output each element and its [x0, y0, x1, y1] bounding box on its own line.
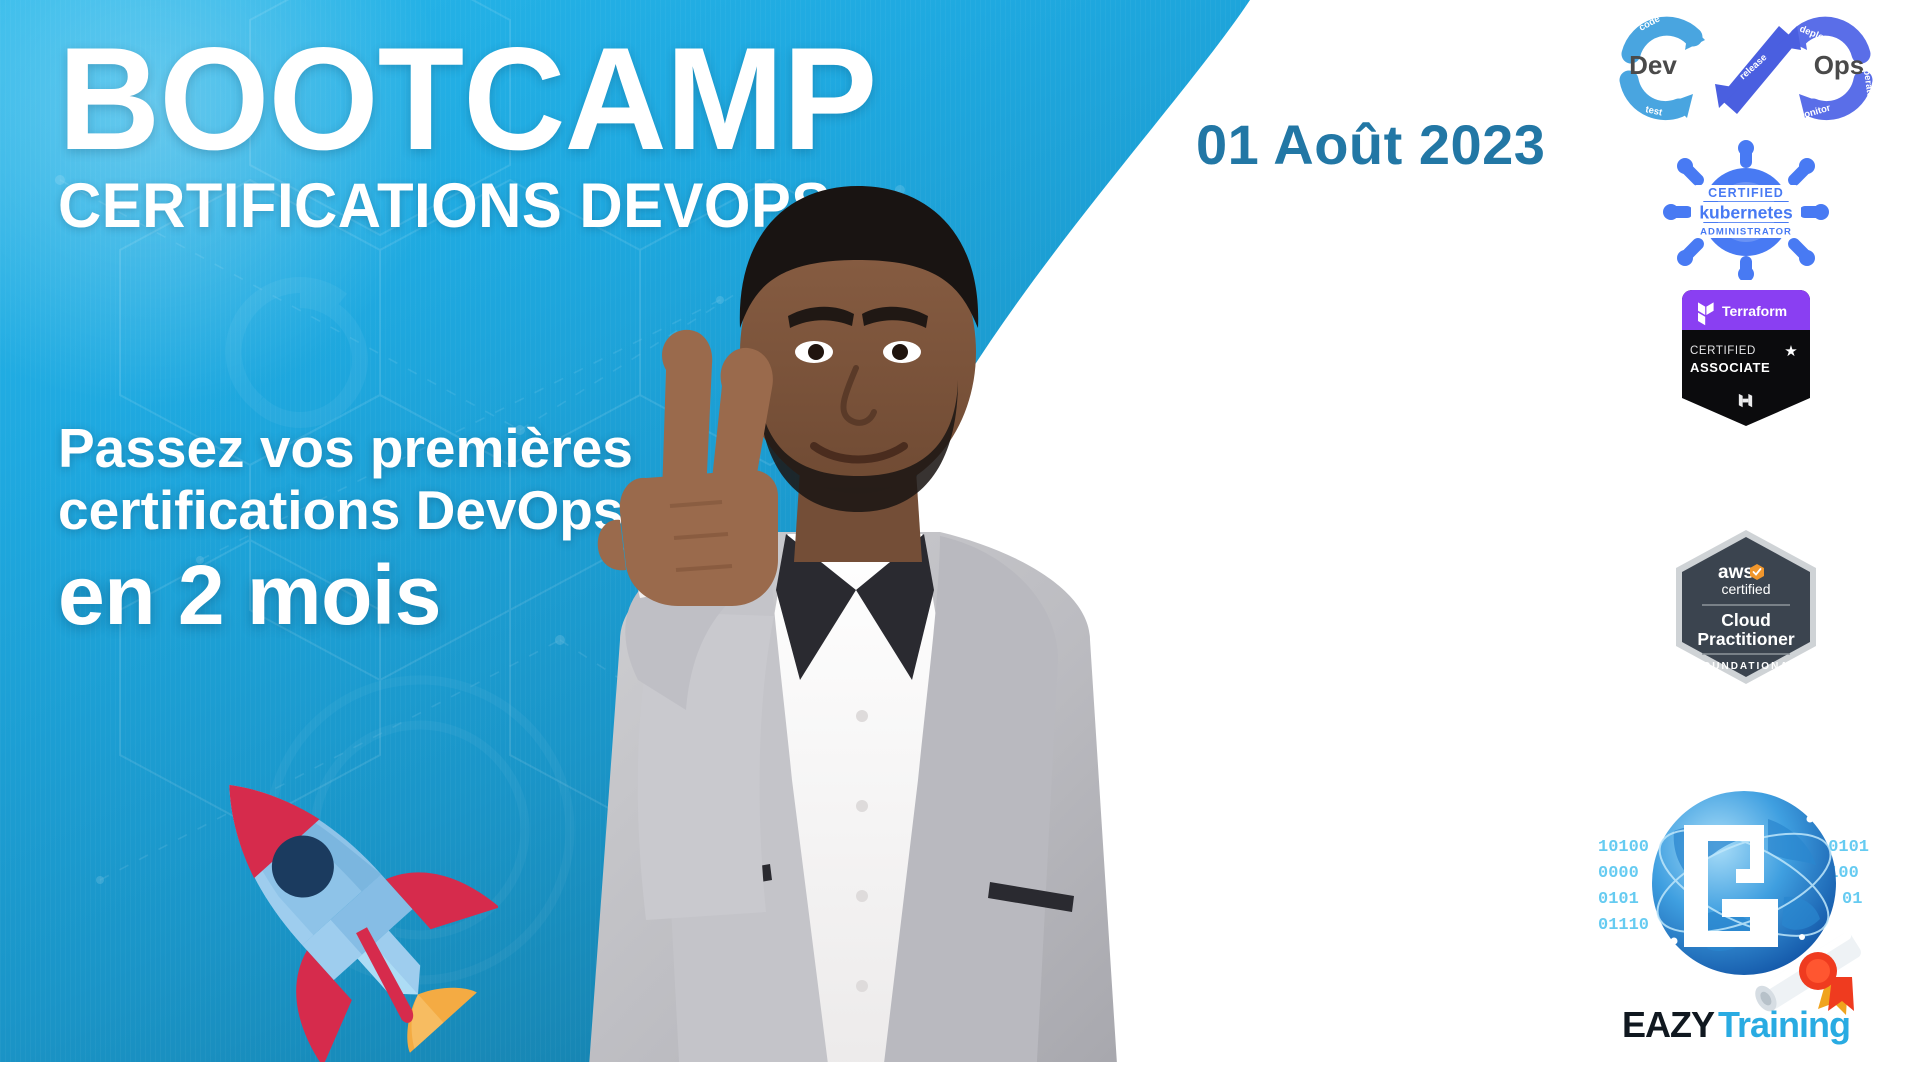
cka-line-2: kubernetes — [1699, 203, 1793, 223]
promo-banner: BOOTCAMP CERTIFICATIONS DEVOPS Passez vo… — [0, 0, 1920, 1080]
aws-brand-line-1: aws — [1718, 562, 1754, 583]
devops-ops-label: Ops — [1814, 50, 1865, 80]
brand-word-2: Training — [1718, 1004, 1850, 1045]
rocket-illustration — [168, 735, 498, 1065]
terraform-line-2: ASSOCIATE — [1690, 360, 1770, 375]
devops-dev-label: Dev — [1629, 50, 1677, 80]
devops-stage-test: test — [1644, 104, 1664, 118]
binary-left-4: 01110 — [1598, 916, 1649, 935]
cka-line-3: ADMINISTRATOR — [1700, 227, 1792, 238]
aws-level-label: FOUNDATIONAL — [1694, 661, 1797, 672]
event-date: 01 Août 2023 — [1196, 112, 1545, 177]
terraform-star-icon: ★ — [1784, 343, 1797, 360]
terraform-brand-label: Terraform — [1722, 303, 1787, 319]
cka-line-1: CERTIFIED — [1708, 186, 1784, 200]
terraform-associate-badge: Terraform CERTIFIED ASSOCIATE ★ — [1672, 288, 1820, 428]
binary-left-3: 0101 — [1598, 890, 1639, 909]
aws-brand-line-2: certified — [1721, 581, 1770, 597]
aws-cloud-practitioner-badge: aws certified Cloud Practitioner FOUNDAT… — [1670, 528, 1822, 686]
bottom-white-strip — [0, 1062, 1920, 1080]
binary-left-2: 0000 — [1598, 864, 1639, 883]
brand-word-1: EAZY — [1622, 1004, 1715, 1045]
binary-left-1: 10100 — [1598, 838, 1649, 857]
aws-title-line-2: Practitioner — [1697, 629, 1794, 649]
aws-title-line-1: Cloud — [1721, 610, 1771, 630]
kubernetes-administrator-badge: CERTIFIED kubernetes ADMINISTRATOR — [1661, 140, 1831, 280]
terraform-line-1: CERTIFIED — [1690, 345, 1756, 357]
certification-badge-rail: Dev Ops code plan build test deploy oper… — [1596, 0, 1896, 1080]
devops-infinity-icon: Dev Ops code plan build test deploy oper… — [1601, 2, 1891, 132]
binary-right-3: 01 — [1842, 890, 1862, 909]
eazy-training-logo: 10100 0000 0101 01110 10101 0100 01 — [1596, 765, 1896, 1065]
presenter-photo — [470, 120, 1200, 1080]
devops-stage-build: build — [1607, 44, 1621, 68]
